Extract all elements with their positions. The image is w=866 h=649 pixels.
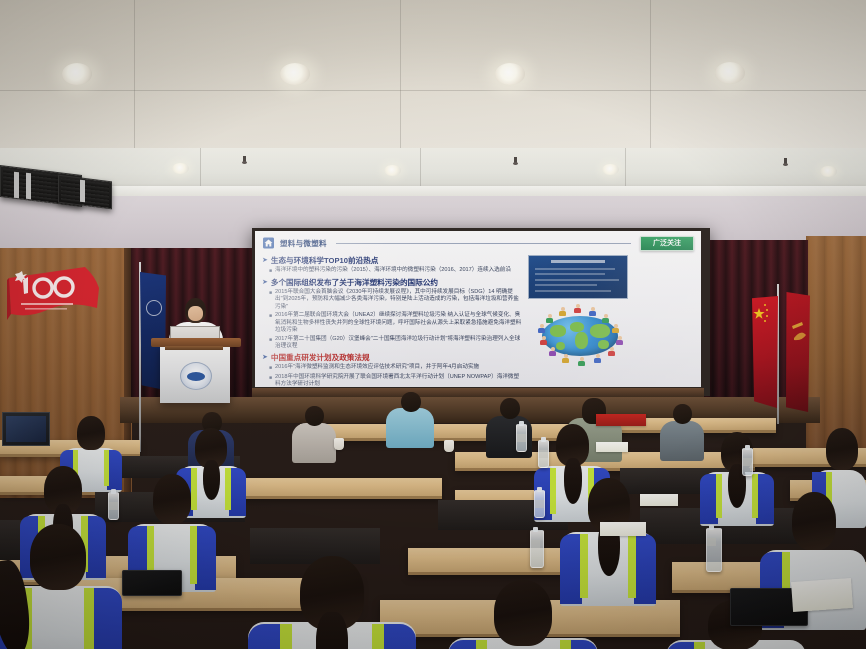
tablet-device[interactable] <box>122 570 182 596</box>
paper-sheet[interactable] <box>640 494 678 506</box>
uniform-stripe <box>372 624 384 649</box>
presenter-head <box>185 298 206 323</box>
water-bottle[interactable] <box>534 490 545 518</box>
paper-sheet[interactable] <box>600 522 646 536</box>
water-bottle[interactable] <box>516 424 527 452</box>
bullet-dot-icon: ■ <box>269 336 272 351</box>
status-badge: 广泛关注 <box>640 236 694 251</box>
uniform-stripe <box>628 534 636 598</box>
slide-section-heading: ➤ 生态与环境科学TOP10前沿热点 <box>262 256 524 266</box>
school-flag-crest <box>146 300 162 316</box>
uniform-shoulder <box>229 468 246 516</box>
uniform-stripe <box>84 588 94 649</box>
water-bottle[interactable] <box>706 528 722 572</box>
global-collaboration-globe <box>528 304 632 366</box>
bullet-dot-icon: ■ <box>269 364 272 372</box>
party-flag <box>786 292 810 412</box>
landmass <box>570 322 584 332</box>
delegate-figure <box>574 304 581 313</box>
table-row <box>232 478 442 499</box>
ceiling-seam <box>0 90 866 91</box>
flag-stars <box>752 296 778 408</box>
international-convention-screenshot <box>528 255 628 299</box>
uniform-stripe <box>225 468 231 510</box>
delegate-figure <box>602 314 609 323</box>
slide-title: 塑料与微塑料 <box>280 238 327 249</box>
ceiling-seam <box>200 148 201 188</box>
delegate-figure <box>538 324 545 333</box>
uniform-stripe <box>190 526 197 584</box>
section-heading-text: 生态与环境科学TOP10前沿热点 <box>271 256 378 266</box>
national-flag <box>752 296 778 408</box>
delegate-figure <box>616 336 623 345</box>
section-heading-text: 多个国际组织发布了关于海洋塑料污染的国际公约 <box>271 278 438 288</box>
landmass <box>550 325 566 337</box>
uniform-stripe <box>752 474 758 518</box>
speaker-mount <box>26 173 31 200</box>
student-head <box>30 524 86 590</box>
student-head <box>77 416 105 450</box>
water-bottle[interactable] <box>538 440 549 468</box>
sub-bullet-text: 2016年"海洋微塑料监测和生态环境效应评估技术研究"项目，并于阿年4月启动实施 <box>275 364 479 372</box>
podium-school-crest <box>180 362 212 390</box>
sub-bullet-text: 海洋环境中的塑料污染的污染（2015）、海洋环境中的微塑料污染（2016、201… <box>275 267 511 275</box>
header-rule <box>336 243 631 244</box>
student-head <box>494 580 552 646</box>
student <box>448 580 598 649</box>
screenshot-line <box>535 284 597 286</box>
home-icon <box>262 237 275 249</box>
bullet-dot-icon: ■ <box>269 312 272 334</box>
bullet-arrow-icon: ➤ <box>262 353 268 363</box>
uniform-shoulder <box>568 640 598 649</box>
bullet-dot-icon: ■ <box>269 374 272 387</box>
laptop-base <box>165 346 223 350</box>
ceiling-light <box>280 63 310 85</box>
slide-sub-bullet: ■ 2016年第二届联合国环境大会（UNEA2）继续探讨海洋塑料垃圾污染 纳入认… <box>262 312 524 334</box>
water-bottle[interactable] <box>530 530 544 568</box>
paper-cup[interactable] <box>334 438 344 450</box>
slide-sub-bullet: ■ 2015年联合国大会首脑会议《2030年可持续发展议程》，其中可持续发展目标… <box>262 289 524 311</box>
landmass <box>556 342 565 350</box>
uniform-shoulder <box>634 534 656 604</box>
bullet-dot-icon: ■ <box>269 289 272 311</box>
landmass <box>590 324 610 338</box>
delegate-figure <box>594 354 601 363</box>
sub-bullet-text: 2015年联合国大会首脑会议《2030年可持续发展议程》，其中可持续发展目标（S… <box>275 289 524 311</box>
uniform-shoulder <box>195 526 216 590</box>
screen-bottom-rail <box>252 388 704 397</box>
attendee-adult <box>660 404 704 456</box>
slide-sub-bullet: ■ 2017年第二十国集团（G20）汉堡峰会"二十国集团海洋垃圾行动计划"将海洋… <box>262 336 524 351</box>
screenshot-line <box>535 268 615 270</box>
water-bottle[interactable] <box>108 492 119 520</box>
slide-graphic-column <box>524 253 694 387</box>
ceiling-seam <box>650 0 651 150</box>
uniform-shoulder <box>382 624 416 649</box>
screenshot-title-bar <box>551 260 605 263</box>
speaker-mount <box>80 180 85 203</box>
presentation-slide: 塑料与微塑料 广泛关注 ➤ 生态与环境科学TOP10前沿热点 ■ 海洋环境中的塑… <box>255 231 701 387</box>
bullet-dot-icon: ■ <box>269 267 272 275</box>
uniform-stripe <box>560 640 571 649</box>
attendee-laptop[interactable] <box>2 412 50 446</box>
lecture-hall-photo: 塑料与微塑料 广泛关注 ➤ 生态与环境科学TOP10前沿热点 ■ 海洋环境中的塑… <box>0 0 866 649</box>
attendee-body <box>292 423 336 463</box>
party-centenary-emblem <box>7 262 103 334</box>
ceiling-seam <box>134 0 135 150</box>
uniform-stripe <box>280 624 292 649</box>
delegate-figure <box>578 357 585 366</box>
sprinkler-head <box>784 158 787 165</box>
ceiling-light <box>602 164 619 175</box>
uniform-shoulder <box>92 588 122 649</box>
uniform-stripe <box>694 642 705 649</box>
ceiling-light <box>172 163 189 174</box>
student <box>128 474 216 584</box>
ponytail <box>316 612 348 649</box>
delegate-figure <box>549 347 556 356</box>
bullet-arrow-icon: ➤ <box>262 278 268 288</box>
ceiling-band <box>0 148 866 188</box>
sub-bullet-text: 2018年中国环境科学研究院开展了联合国环境署西北太平洋行动计划（UNEP NO… <box>275 374 524 387</box>
delegate-figure <box>608 347 615 356</box>
attendee-head <box>401 392 421 412</box>
attendee-head <box>500 398 520 419</box>
attendee-head <box>673 404 692 424</box>
slide-section-heading: ➤ 多个国际组织发布了关于海洋塑料污染的国际公约 <box>262 278 524 288</box>
slide-section-heading: ➤ 中国重点研发计划及政策法规 <box>262 353 524 363</box>
uniform-stripe <box>550 468 556 514</box>
section-heading-text: 中国重点研发计划及政策法规 <box>271 353 370 363</box>
screenshot-line <box>535 290 611 292</box>
attendee-body <box>660 421 704 461</box>
sub-bullet-text: 2016年第二届联合国环境大会（UNEA2）继续探讨海洋塑料垃圾污染 纳入认证与… <box>275 312 524 334</box>
ceiling-light <box>495 63 525 85</box>
slide-sub-bullet: ■ 海洋环境中的塑料污染的污染（2015）、海洋环境中的微塑料污染（2016、2… <box>262 267 524 275</box>
delegate-figure <box>559 307 566 316</box>
uniform-stripe <box>476 640 487 649</box>
bullet-arrow-icon: ➤ <box>262 256 268 266</box>
presenter-face <box>188 306 203 321</box>
delegate-figure <box>540 336 547 345</box>
sprinkler-head <box>243 156 246 163</box>
attendee-adult <box>386 392 434 446</box>
ceiling-seam <box>400 0 401 150</box>
attendee-head <box>305 406 324 426</box>
speaker-grill <box>61 178 109 206</box>
student <box>248 556 416 649</box>
student-head <box>153 474 191 524</box>
delegate-figure <box>612 324 619 333</box>
uniform-shoulder <box>248 624 282 649</box>
delegate-figure <box>546 314 553 323</box>
uniform-stripe <box>716 474 722 518</box>
paper-cup[interactable] <box>444 440 454 452</box>
screenshot-line <box>535 273 605 275</box>
student-head <box>826 428 858 470</box>
paper-sheet[interactable] <box>596 442 628 452</box>
slide-text-column: ➤ 生态与环境科学TOP10前沿热点 ■ 海洋环境中的塑料污染的污染（2015）… <box>262 253 524 387</box>
slide-sub-bullet: ■ 2018年中国环境科学研究院开展了联合国环境署西北太平洋行动计划（UNEP … <box>262 374 524 387</box>
paper-sheet[interactable] <box>791 578 853 612</box>
ceiling-light <box>820 166 837 177</box>
slide-body: ➤ 生态与环境科学TOP10前沿热点 ■ 海洋环境中的塑料污染的污染（2015）… <box>262 253 694 387</box>
attendee-body <box>386 408 434 448</box>
screenshot-line <box>535 279 619 281</box>
ceiling-seam <box>420 148 421 188</box>
ceiling-light <box>715 62 745 84</box>
ceiling-light <box>62 63 92 85</box>
slide-header: 塑料与微塑料 广泛关注 <box>262 236 694 250</box>
hammer-sickle-icon <box>786 292 810 412</box>
sprinkler-head <box>514 157 517 164</box>
uniform-shoulder <box>107 450 122 490</box>
delegate-figure <box>562 354 569 363</box>
speaker-mount <box>14 172 19 199</box>
ceiling-light <box>384 165 401 176</box>
delegate-figure <box>589 307 596 316</box>
sub-bullet-text: 2017年第二十国集团（G20）汉堡峰会"二十国集团海洋垃圾行动计划"将海洋塑料… <box>275 336 524 351</box>
water-bottle[interactable] <box>742 448 753 476</box>
landmass <box>575 332 588 349</box>
ceiling-seam <box>625 148 626 188</box>
projection-screen[interactable]: 塑料与微塑料 广泛关注 ➤ 生态与环境科学TOP10前沿热点 ■ 海洋环境中的塑… <box>255 231 701 387</box>
student-head <box>792 492 836 550</box>
attendee-adult <box>292 406 336 458</box>
student <box>0 524 122 649</box>
red-folder[interactable] <box>596 414 646 426</box>
slide-sub-bullet: ■ 2016年"海洋微塑料监测和生态环境效应评估技术研究"项目，并于阿年4月启动… <box>262 364 524 372</box>
